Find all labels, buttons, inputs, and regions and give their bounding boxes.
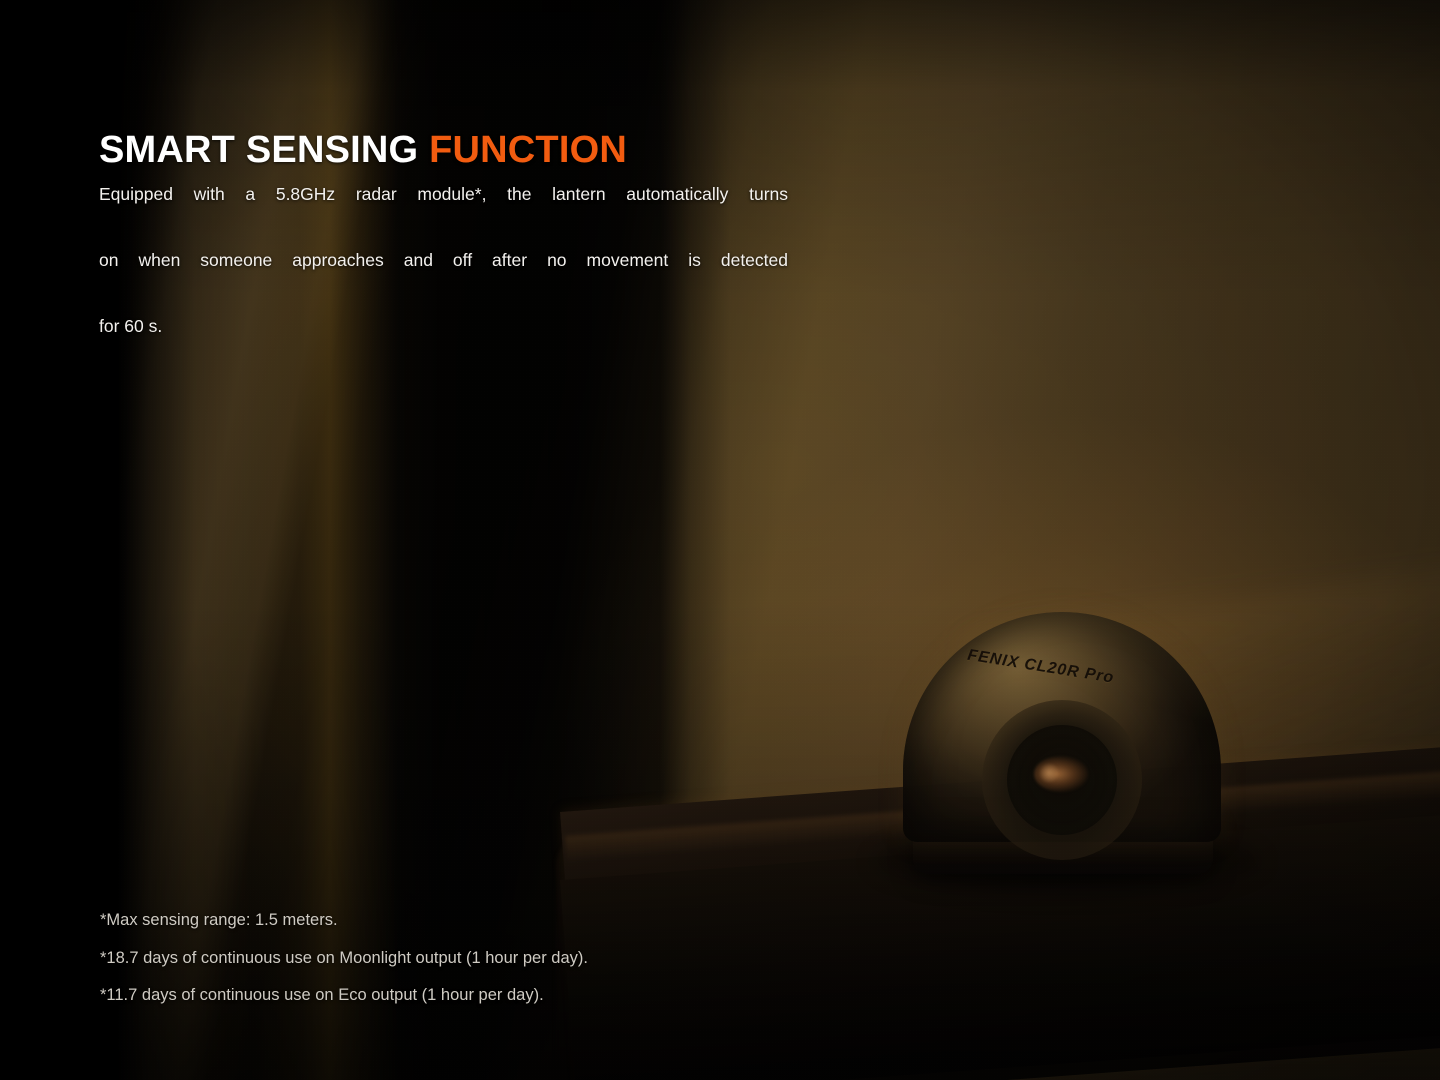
description-line-2: on when someone approaches and off after… — [99, 244, 788, 310]
description-paragraph: Equipped with a 5.8GHz radar module*, th… — [99, 178, 788, 343]
footnote-moonlight-runtime: *18.7 days of continuous use on Moonligh… — [100, 940, 820, 978]
description-line-1: Equipped with a 5.8GHz radar module*, th… — [99, 178, 788, 244]
footnote-sensing-range: *Max sensing range: 1.5 meters. — [100, 902, 820, 940]
lantern-lens-highlight — [1039, 762, 1059, 784]
footnote-eco-runtime: *11.7 days of continuous use on Eco outp… — [100, 977, 820, 1015]
fenix-lantern: FENIX CL20R Pro — [903, 612, 1221, 862]
page-title-primary: SMART SENSING — [99, 129, 429, 171]
footnote-list: *Max sensing range: 1.5 meters. *18.7 da… — [100, 902, 820, 1015]
page-title-accent: FUNCTION — [429, 129, 627, 171]
description-line-3: for 60 s. — [99, 310, 788, 343]
page-title: SMART SENSING FUNCTION — [99, 128, 627, 172]
product-feature-slide: FENIX CL20R Pro SMART SENSING FUNCTION E… — [0, 0, 1440, 1080]
